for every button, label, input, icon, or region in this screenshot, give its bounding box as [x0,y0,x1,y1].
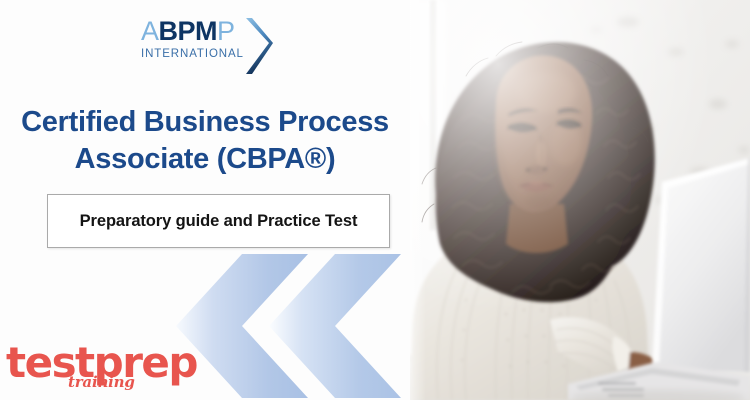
page-title: Certified Business Process Associate (CB… [8,104,402,178]
logo-subtitle: INTERNATIONAL [141,48,251,60]
chevron-right-icon [243,17,273,75]
chevron-shape-2 [269,254,401,398]
woman-using-laptop-photo [400,0,750,400]
logo-letter-a: A [141,16,159,46]
subtitle-box: Preparatory guide and Practice Test [47,194,390,248]
logo-inner: ABPMP INTERNATIONAL [141,14,269,80]
left-content-panel: ABPMP INTERNATIONAL Certified Business P… [0,0,410,400]
testprep-training-logo[interactable]: testprep training [6,340,176,398]
abpmp-international-logo: ABPMP INTERNATIONAL [0,14,410,84]
photo-illustration [400,0,750,400]
double-chevron-left-icon [170,252,410,400]
logo-wordmark: ABPMP [141,16,249,46]
subtitle-text: Preparatory guide and Practice Test [68,211,370,232]
logo-letter-p: P [217,16,235,46]
logo-letters-bpm: BPM [159,16,218,46]
training-wordmark: training [68,374,135,391]
certification-banner: ABPMP INTERNATIONAL Certified Business P… [0,0,750,400]
